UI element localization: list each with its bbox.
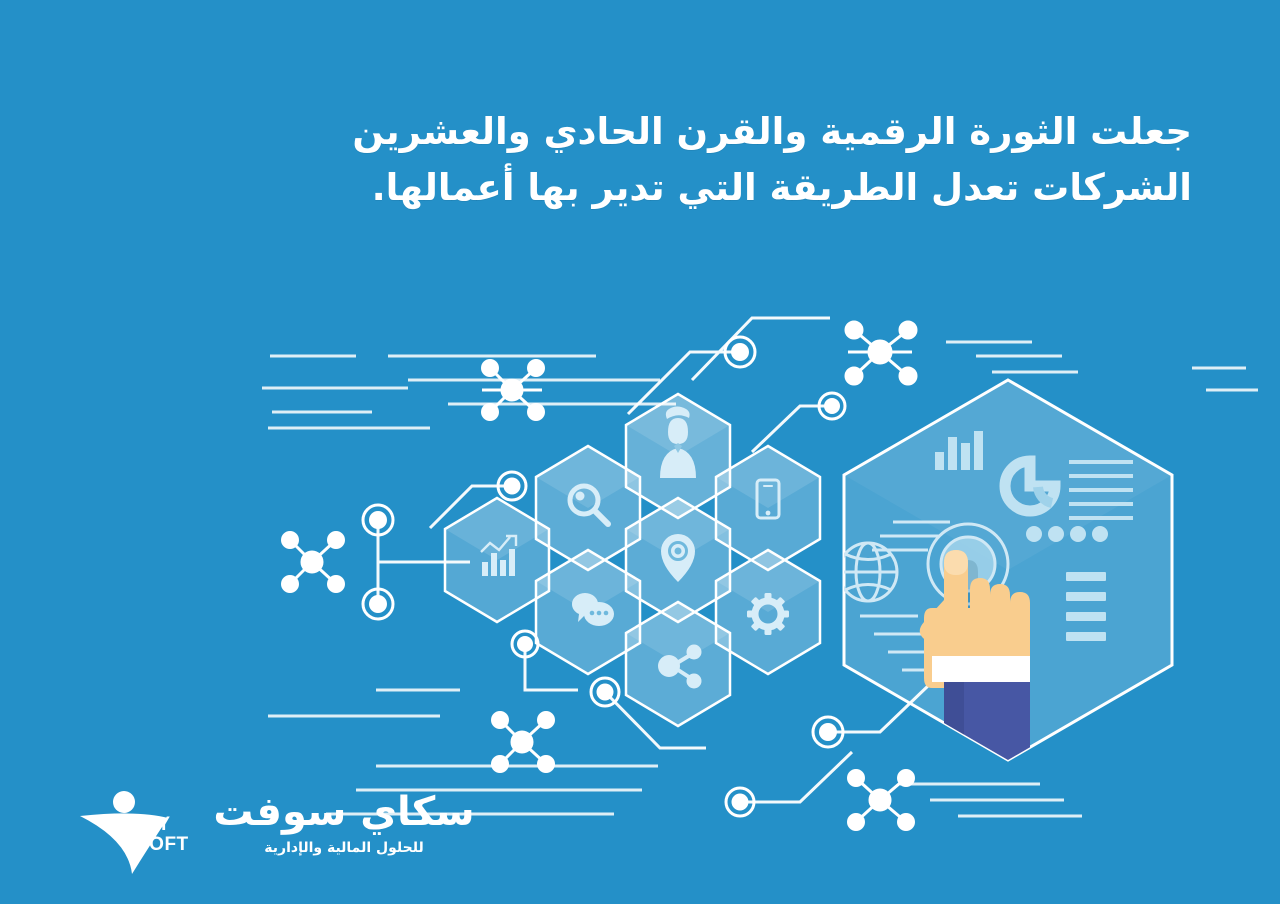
logo-tagline-arabic: للحلول المالية والإدارية — [210, 838, 478, 858]
star-node-3 — [283, 533, 344, 592]
headline: جعلت الثورة الرقمية والقرن الحادي والعشر… — [468, 104, 1192, 216]
hexagon-cluster — [445, 394, 820, 726]
star-node-2 — [482, 361, 544, 420]
logo-name-arabic: سكاي سوفت — [210, 788, 478, 836]
star-node-4 — [493, 713, 554, 772]
star-node-5 — [849, 771, 914, 830]
decor-lines-top-right — [946, 342, 1078, 372]
hex-growth-chart[interactable] — [445, 498, 549, 622]
brand-logo[interactable]: SKY SOFT سكاي سوفت للحلول المالية والإدا… — [78, 786, 478, 886]
headline-line-1: جعلت الثورة الرقمية والقرن الحادي والعشر… — [468, 104, 1192, 160]
hex-chat[interactable] — [536, 550, 640, 674]
decor-lines-left — [262, 388, 408, 412]
ring-node-7 — [591, 678, 619, 706]
logo-text-sky: SKY — [130, 814, 171, 836]
decor-lines-bottom-right — [900, 784, 1082, 816]
star-node-1 — [846, 322, 916, 384]
hex-share[interactable] — [626, 602, 730, 726]
hex-dashboard[interactable] — [839, 380, 1172, 772]
hex-settings[interactable] — [716, 550, 820, 674]
decor-lines-right-edge — [1192, 368, 1258, 390]
poster-canvas: جعلت الثورة الرقمية والقرن الحادي والعشر… — [0, 0, 1280, 904]
headline-line-2: الشركات تعدل الطريقة التي تدير بها أعمال… — [468, 160, 1192, 216]
logo-text-soft: SOFT — [136, 834, 189, 856]
